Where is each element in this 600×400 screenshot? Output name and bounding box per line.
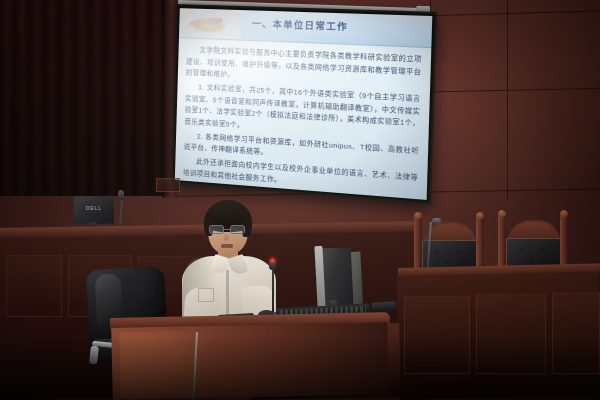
gooseneck-microphone-stem [272, 266, 274, 314]
bench-panel [6, 255, 62, 317]
chair-finial [498, 210, 506, 217]
chair-finial [560, 210, 568, 217]
judge-bench-panel [552, 292, 600, 374]
slide-body: 文学院文科实验与服务中心主要负责学院各类教学科研实验室的立项建设、培训使用、维护… [183, 44, 422, 192]
chair-finial [414, 212, 422, 219]
lens-left [209, 225, 224, 234]
projection-screen-surface: 一、本单位日常工作 文学院文科实验与服务中心主要负责学院各类教学科研实验室的立项… [175, 8, 433, 200]
wall-panel-seam [507, 0, 508, 200]
desk-lamp-head [432, 218, 441, 224]
slide-title: 一、本单位日常工作 [251, 17, 348, 34]
judge-bench-panel [476, 294, 546, 374]
slide-title-bar: 一、本单位日常工作 [179, 8, 432, 48]
glasses-bridge [224, 229, 230, 230]
nose [224, 232, 229, 241]
lens-right [230, 225, 245, 234]
judge-bench-panel [404, 296, 470, 374]
microphone-led-indicator[interactable] [270, 258, 275, 263]
chair-finial [476, 212, 484, 219]
slide-header-photo-icon [179, 8, 242, 39]
conference-room-photo: 一、本单位日常工作 文学院文科实验与服务中心主要负责学院各类教学科研实验室的立项… [0, 0, 600, 400]
podium-desk-highlight [119, 330, 230, 398]
wall-plaque [156, 178, 180, 192]
mouth [221, 244, 233, 248]
dell-logo: DELL [84, 206, 104, 212]
desk-item-device[interactable] [372, 301, 397, 312]
projection-screen: 一、本单位日常工作 文学院文科实验与服务中心主要负责学院各类教学科研实验室的立项… [171, 4, 437, 205]
shirt-pocket [198, 288, 214, 302]
side-curtain [0, 0, 176, 196]
rail-microphone-head [118, 190, 124, 200]
